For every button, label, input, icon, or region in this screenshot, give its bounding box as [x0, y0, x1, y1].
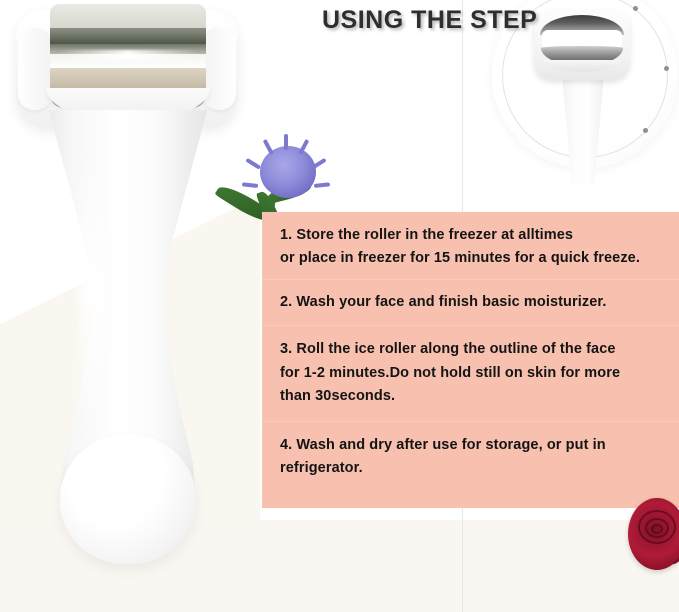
inset-dot	[643, 128, 648, 133]
step-line: 3. Roll the ice roller along the outline…	[280, 338, 663, 361]
step-line: than 30seconds.	[280, 385, 663, 408]
infographic-canvas: USING THE STEP 1. Store the roller in th…	[0, 0, 679, 612]
roller-arm-left	[18, 28, 52, 110]
instruction-step: 1. Store the roller in the freezer at al…	[262, 212, 679, 279]
step-line: refrigerator.	[280, 457, 663, 480]
instruction-step: 3. Roll the ice roller along the outline…	[262, 325, 679, 420]
step-line: or place in freezer for 15 minutes for a…	[280, 247, 663, 270]
inset-roller-head	[534, 10, 630, 80]
inset-dot	[633, 6, 638, 11]
drum-band	[50, 28, 206, 44]
drum-highlight	[59, 50, 196, 60]
instruction-step: 4. Wash and dry after use for storage, o…	[262, 421, 679, 493]
step-line: 4. Wash and dry after use for storage, o…	[280, 434, 663, 457]
rose-swirl	[651, 524, 663, 534]
step-line: 2. Wash your face and finish basic moist…	[280, 291, 663, 314]
instruction-step: 2. Wash your face and finish basic moist…	[262, 279, 679, 325]
handle-highlight	[78, 142, 104, 442]
product-ice-roller	[8, 2, 254, 572]
step-line: 1. Store the roller in the freezer at al…	[280, 224, 663, 247]
drum-band	[50, 68, 206, 90]
drum-band	[50, 4, 206, 28]
page-title: USING THE STEP	[322, 6, 537, 35]
rose-decoration	[628, 498, 679, 570]
roller-arm-right	[202, 28, 236, 110]
roller-handle-tip	[60, 434, 196, 564]
instructions-panel: 1. Store the roller in the freezer at al…	[262, 212, 679, 508]
step-line: for 1-2 minutes.Do not hold still on ski…	[280, 362, 663, 385]
flower-bloom	[260, 146, 316, 198]
inset-dot	[664, 66, 669, 71]
